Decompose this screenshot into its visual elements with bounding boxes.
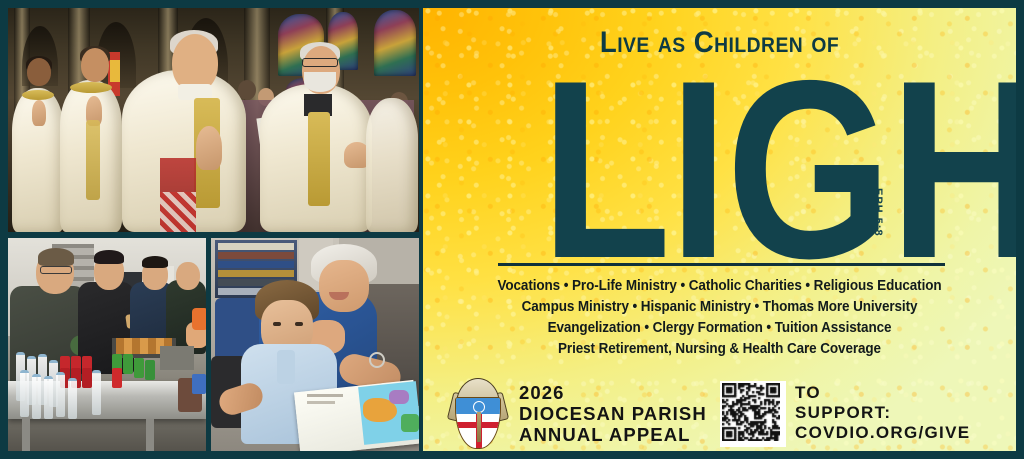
support-url[interactable]: COVDIO.ORG/GIVE	[795, 423, 970, 443]
appeal-line-3: ANNUAL APPEAL	[519, 424, 707, 445]
photo-column	[8, 8, 419, 451]
scripture-reference: EPH 5:8	[872, 188, 884, 237]
support-block: TO SUPPORT: COVDIO.ORG/GIVE	[795, 383, 970, 443]
ministries-line: Campus Ministry • Hispanic Ministry • Th…	[444, 297, 995, 318]
diocesan-coat-of-arms-icon	[446, 378, 508, 450]
appeal-panel: Live as Children of LIGHT EPH 5:8 Vocati…	[423, 8, 1016, 451]
appeal-footer: 2026 DIOCESAN PARISH ANNUAL APPEAL TO SU…	[423, 376, 1016, 451]
headline-bigword: LIGHT	[541, 60, 917, 278]
ministries-line: Vocations • Pro-Life Ministry • Catholic…	[444, 276, 995, 297]
support-line-2: SUPPORT:	[795, 403, 970, 423]
appeal-poster: Live as Children of LIGHT EPH 5:8 Vocati…	[0, 0, 1024, 459]
appeal-year: 2026	[519, 382, 707, 403]
ministries-line: Evangelization • Clergy Formation • Tuit…	[444, 318, 995, 339]
ministries-line: Priest Retirement, Nursing & Health Care…	[444, 339, 995, 360]
divider-rule	[498, 263, 945, 266]
food-service-volunteers-photo	[8, 238, 206, 451]
appeal-title-block: 2026 DIOCESAN PARISH ANNUAL APPEAL	[519, 382, 707, 445]
clergy-procession-photo	[8, 8, 419, 232]
woman-reading-with-child-photo	[211, 238, 419, 451]
qr-code-icon[interactable]	[720, 381, 786, 447]
appeal-line-2: DIOCESAN PARISH	[519, 403, 707, 424]
ministries-list: Vocations • Pro-Life Ministry • Catholic…	[423, 276, 1016, 360]
qr-code-canvas[interactable]	[722, 383, 780, 441]
support-line-1: TO	[795, 383, 970, 403]
